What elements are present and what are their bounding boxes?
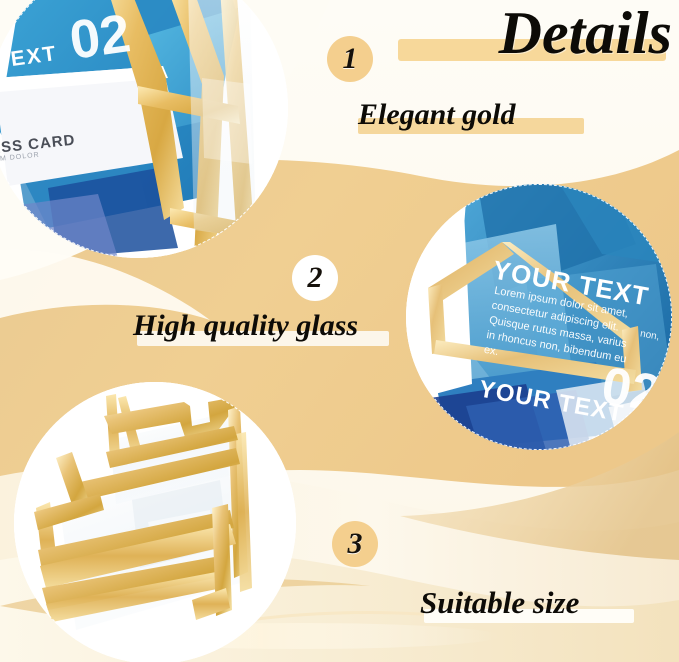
photo-1-card-number: 02 [66,2,134,72]
feature-badge-2: 2 [292,255,338,301]
feature-label-group-3: Suitable size [420,583,640,627]
page-title-group: Details [388,2,676,72]
feature-label-3: Suitable size [420,583,579,623]
photo-high-quality-glass: YOUR TEXT Lorem ipsum dolor sit amet, co… [406,184,672,450]
feature-badge-3: 3 [332,521,378,567]
feature-label-2: High quality glass [133,307,358,345]
page-title: Details [388,2,676,64]
feature-label-1: Elegant gold [358,96,516,134]
photo-1-art [0,0,288,258]
infographic-canvas: TEXT 02 amet, ng elit. Q us in rhonc non… [0,0,679,662]
feature-badge-1: 1 [327,36,373,82]
photo-elegant-gold: TEXT 02 amet, ng elit. Q us in rhonc non… [0,0,288,258]
photo-suitable-size [14,382,296,662]
feature-label-group-1: Elegant gold [358,96,590,138]
feature-label-group-2: High quality glass [133,307,393,349]
photo-3-art [14,382,296,662]
